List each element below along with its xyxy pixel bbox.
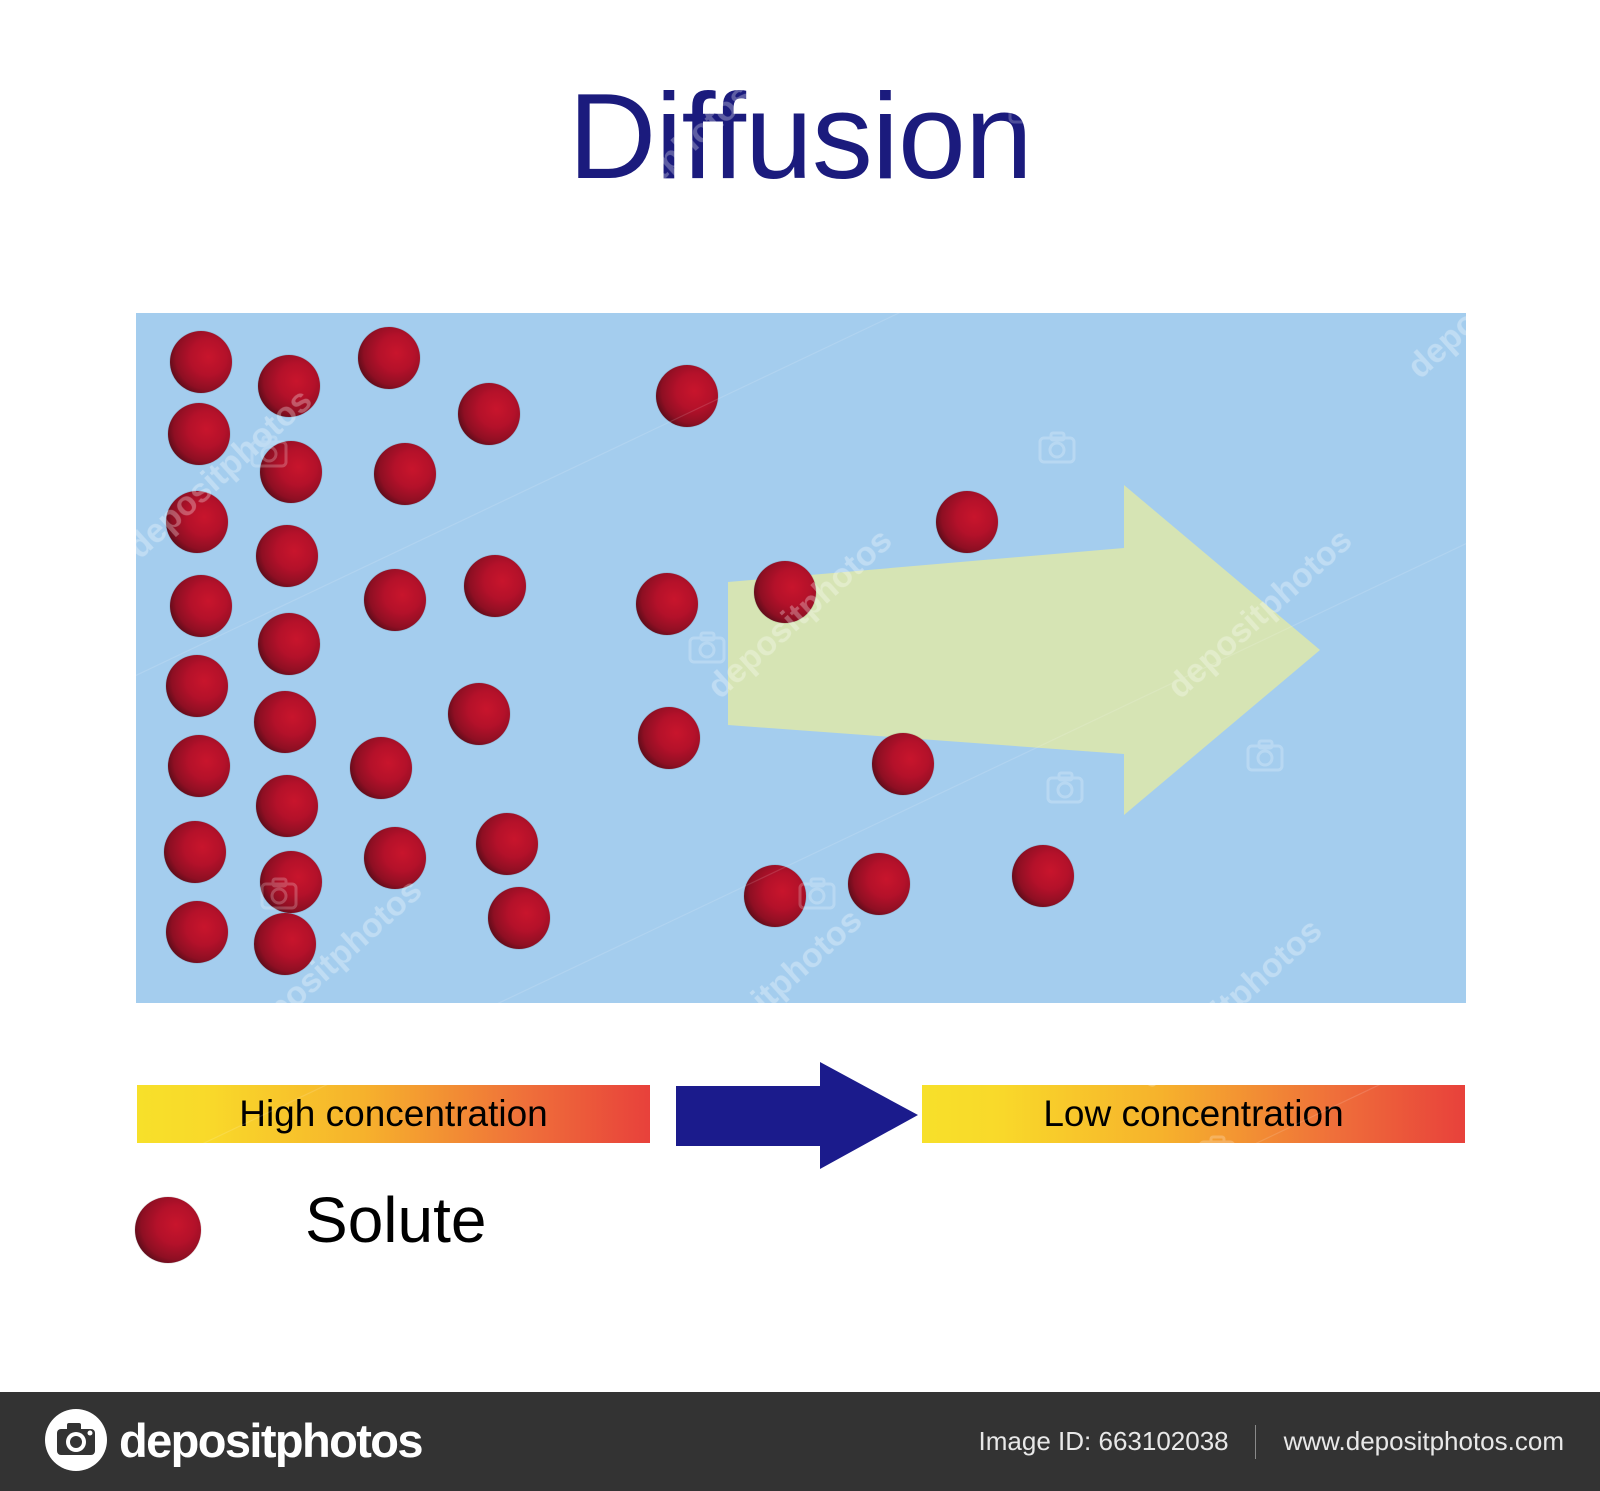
solute-sphere: [254, 691, 316, 753]
solute-sphere: [260, 851, 322, 913]
solute-sphere: [448, 683, 510, 745]
solute-sphere: [170, 331, 232, 393]
solute-sphere: [168, 735, 230, 797]
solute-sphere: [166, 491, 228, 553]
solute-sphere: [258, 355, 320, 417]
camera-icon: [45, 1409, 107, 1471]
high-concentration-label: High concentration: [239, 1093, 548, 1135]
solute-sphere: [166, 655, 228, 717]
solute-sphere: [170, 575, 232, 637]
footer-bar: depositphotos Image ID: 663102038 www.de…: [0, 1392, 1600, 1491]
high-concentration-bar: High concentration: [137, 1085, 650, 1143]
direction-arrow-icon: [668, 1058, 924, 1173]
solute-sphere: [464, 555, 526, 617]
solute-sphere: [256, 775, 318, 837]
solute-sphere: [488, 887, 550, 949]
solute-sphere: [848, 853, 910, 915]
solute-sphere: [1012, 845, 1074, 907]
solute-sphere: [936, 491, 998, 553]
depositphotos-logo[interactable]: depositphotos: [45, 1409, 422, 1471]
footer-meta: Image ID: 663102038 www.depositphotos.co…: [979, 1392, 1564, 1491]
page-title: Diffusion: [0, 72, 1600, 200]
solute-sphere: [256, 525, 318, 587]
solute-sphere: [656, 365, 718, 427]
solute-sphere: [168, 403, 230, 465]
footer-image-id: Image ID: 663102038: [979, 1426, 1255, 1457]
low-concentration-label: Low concentration: [1043, 1093, 1343, 1135]
solute-sphere: [458, 383, 520, 445]
solute-sphere: [636, 573, 698, 635]
solute-sphere: [374, 443, 436, 505]
solute-sphere: [350, 737, 412, 799]
solute-sphere: [260, 441, 322, 503]
solute-sphere: [164, 821, 226, 883]
footer-site-url[interactable]: www.depositphotos.com: [1256, 1426, 1564, 1457]
solute-sphere: [364, 827, 426, 889]
solute-sphere: [358, 327, 420, 389]
solute-sphere: [754, 561, 816, 623]
legend-label-solute: Solute: [305, 1188, 486, 1252]
footer-brand-text: depositphotos: [119, 1417, 422, 1464]
solute-sphere: [638, 707, 700, 769]
solute-sphere: [872, 733, 934, 795]
solute-sphere: [476, 813, 538, 875]
low-concentration-bar: Low concentration: [922, 1085, 1465, 1143]
solute-sphere: [254, 913, 316, 975]
diffusion-diagram-panel: [136, 313, 1466, 1003]
solute-sphere: [364, 569, 426, 631]
solute-sphere: [166, 901, 228, 963]
solute-sphere: [258, 613, 320, 675]
solute-sphere: [744, 865, 806, 927]
solute-sphere-icon: [135, 1197, 201, 1263]
